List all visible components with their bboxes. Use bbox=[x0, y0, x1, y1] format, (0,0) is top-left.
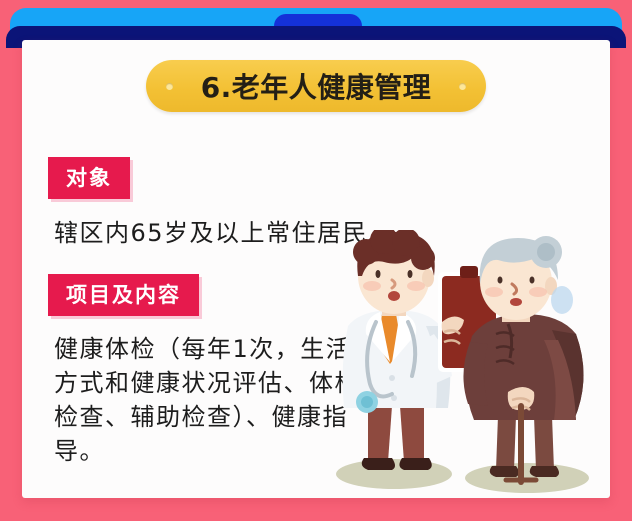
doctor-figure bbox=[343, 230, 452, 470]
content-card: 6.老年人健康管理 对象 辖区内65岁及以上常住居民 项目及内容 健康体检（每年… bbox=[22, 40, 610, 498]
section-tag-object: 对象 bbox=[48, 157, 130, 199]
badge-dot-left-icon bbox=[166, 83, 173, 90]
badge-dot-right-icon bbox=[459, 83, 466, 90]
section-tag-label: 项目及内容 bbox=[48, 274, 199, 316]
section-tag-content: 项目及内容 bbox=[48, 274, 199, 316]
title-badge: 6.老年人健康管理 bbox=[146, 60, 486, 112]
elderly-woman-figure bbox=[463, 236, 583, 482]
section-tag-label: 对象 bbox=[48, 157, 130, 199]
illustration bbox=[322, 230, 610, 498]
page-title: 6.老年人健康管理 bbox=[201, 66, 432, 106]
poster-root: 6.老年人健康管理 对象 辖区内65岁及以上常住居民 项目及内容 健康体检（每年… bbox=[0, 0, 632, 521]
